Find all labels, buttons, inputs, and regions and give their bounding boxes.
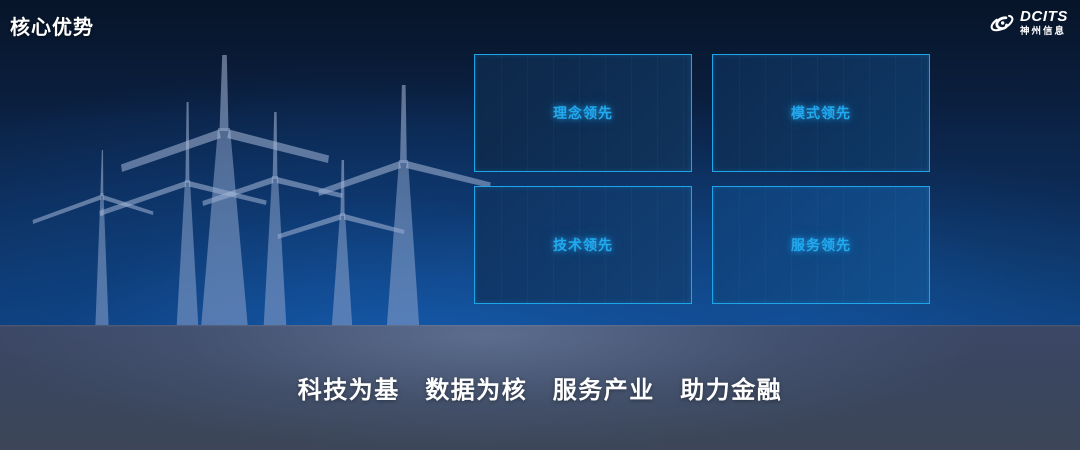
page-title: 核心优势 — [10, 11, 94, 40]
footer-band: 科技为基 数据为核 服务产业 助力金融 — [0, 325, 1080, 450]
advantage-card-model[interactable]: 模式领先 — [712, 54, 930, 172]
advantage-card-technology[interactable]: 技术领先 — [474, 186, 692, 304]
brand-text: DCITS 神州信息 — [1020, 9, 1068, 36]
swoosh-spiral-icon — [989, 10, 1015, 36]
advantage-card-concept[interactable]: 理念领先 — [474, 54, 692, 172]
advantage-card-grid: 理念领先 模式领先 技术领先 服务领先 — [474, 54, 930, 304]
advantage-card-service[interactable]: 服务领先 — [712, 186, 930, 304]
brand-subtitle: 神州信息 — [1020, 27, 1068, 37]
advantage-card-label: 理念领先 — [553, 103, 613, 123]
advantage-card-label: 模式领先 — [791, 103, 851, 123]
advantage-card-label: 技术领先 — [553, 235, 613, 255]
brand-name: DCITS — [1020, 9, 1068, 24]
slide-tagline: 科技为基 数据为核 服务产业 助力金融 — [0, 325, 1080, 450]
advantage-card-label: 服务领先 — [791, 235, 851, 255]
slide-canvas: 核心优势 DCITS 神州信息 理念领先 模式领先 技术领先 服务领先 — [0, 0, 1080, 450]
turbine-1 — [33, 150, 154, 336]
brand-logo: DCITS 神州信息 — [989, 9, 1068, 36]
